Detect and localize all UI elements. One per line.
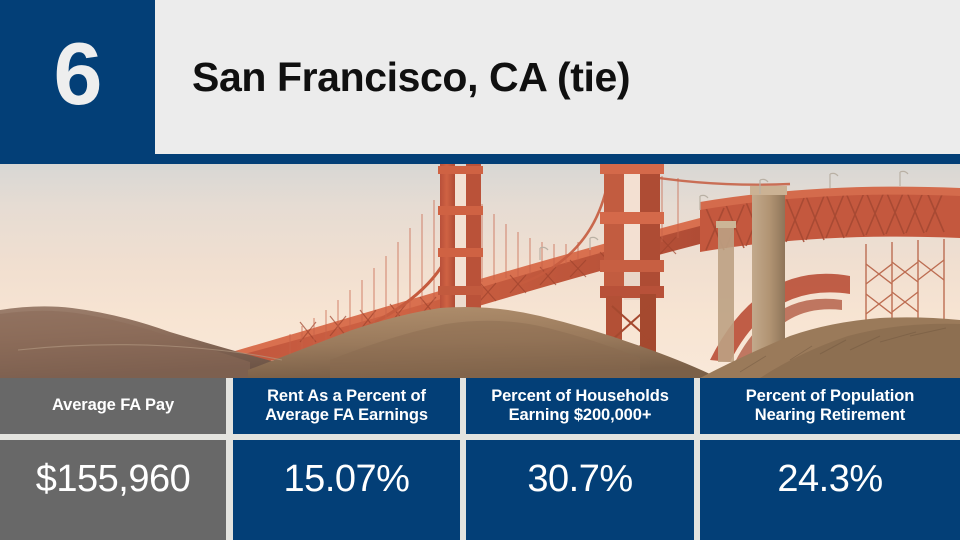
rank-number: 6 [54, 30, 102, 124]
stat-header-label: Percent of PopulationNearing Retirement [746, 387, 914, 426]
stat-header-cell: Average FA Pay [0, 378, 226, 434]
stat-value-cell: 30.7% [466, 440, 694, 540]
stat-header-line1: Rent As a Percent of [267, 387, 426, 405]
stat-value: $155,960 [36, 460, 191, 498]
stat-column-average-fa-pay: Average FA Pay $155,960 [0, 378, 226, 540]
stat-header-cell: Rent As a Percent ofAverage FA Earnings [233, 378, 460, 434]
title-container: San Francisco, CA (tie) [155, 0, 960, 154]
stat-column-households-200k: Percent of HouseholdsEarning $200,000+ 3… [466, 378, 694, 540]
page-title: San Francisco, CA (tie) [192, 54, 630, 101]
stat-header-line2: Earning $200,000+ [509, 406, 652, 424]
stats-table: Average FA Pay $155,960 Rent As a Percen… [0, 378, 960, 540]
stat-header-cell: Percent of PopulationNearing Retirement [700, 378, 960, 434]
stat-column-rent-percent: Rent As a Percent ofAverage FA Earnings … [233, 378, 460, 540]
golden-gate-bridge-illustration [0, 164, 960, 378]
stat-value-cell: $155,960 [0, 440, 226, 540]
slide-root: 6 San Francisco, CA (tie) [0, 0, 960, 540]
stat-header-line2: Average FA Earnings [265, 406, 428, 424]
stat-value: 15.07% [284, 460, 410, 498]
stat-value-cell: 24.3% [700, 440, 960, 540]
stat-value-cell: 15.07% [233, 440, 460, 540]
stat-value: 30.7% [527, 460, 632, 498]
stat-value: 24.3% [777, 460, 882, 498]
stat-header-label: Average FA Pay [52, 396, 174, 415]
stat-header-line1: Percent of Households [491, 387, 669, 405]
stat-header-line2: Nearing Retirement [755, 406, 905, 424]
stat-header-label: Rent As a Percent ofAverage FA Earnings [265, 387, 428, 426]
stat-header-line1: Percent of Population [746, 387, 914, 405]
header-accent-rule [0, 154, 960, 164]
header-bar: 6 San Francisco, CA (tie) [0, 0, 960, 154]
stat-header-label: Percent of HouseholdsEarning $200,000+ [491, 387, 669, 426]
hero-photo [0, 164, 960, 378]
rank-badge: 6 [0, 0, 155, 154]
stat-header-cell: Percent of HouseholdsEarning $200,000+ [466, 378, 694, 434]
stat-column-nearing-retirement: Percent of PopulationNearing Retirement … [700, 378, 960, 540]
